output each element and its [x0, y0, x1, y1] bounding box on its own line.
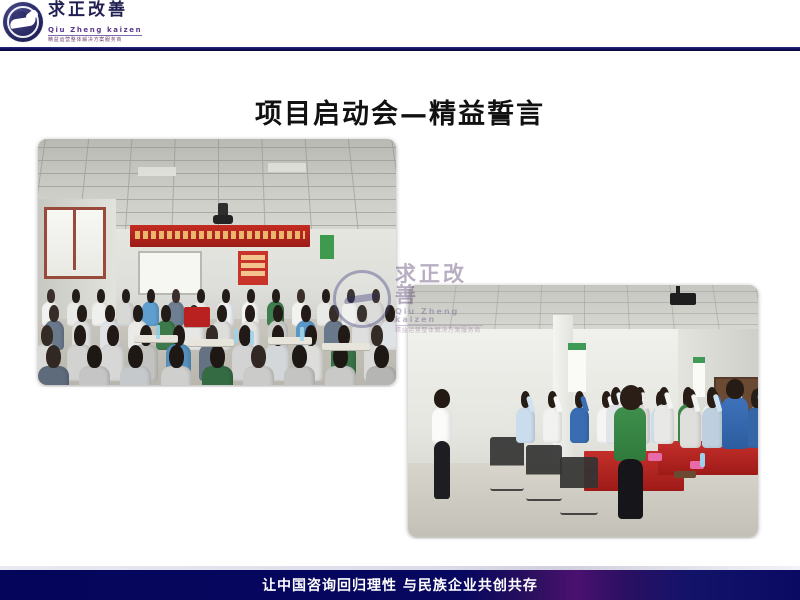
brand-logo-text: 求正改善 Qiu Zheng kaizen 精益运营整体解决方案服务商 [48, 2, 142, 43]
brand-tagline: 精益运营整体解决方案服务商 [48, 38, 142, 43]
slide-header: 求正改善 Qiu Zheng kaizen 精益运营整体解决方案服务商 [0, 0, 800, 52]
photo-oath-ceremony-image [408, 285, 758, 537]
page-title: 项目启动会—精益誓言 [0, 92, 800, 131]
photo-oath-reflection [408, 539, 758, 565]
photo-oath-ceremony [408, 285, 758, 565]
brand-name-cn: 求正改善 [48, 2, 142, 19]
photo-kickoff-reflection [38, 387, 396, 429]
qiuzheng-circle-swoosh-logo-icon [3, 2, 43, 42]
photo-kickoff-meeting-rear-view-image [38, 139, 396, 385]
footer-slogan: 让中国咨询回归理性 与民族企业共创共存 [262, 575, 538, 595]
brand-logo: 求正改善 Qiu Zheng kaizen 精益运营整体解决方案服务商 [3, 1, 142, 43]
photo-kickoff-meeting-rear-view [38, 139, 396, 429]
header-divider-rule [0, 47, 800, 51]
brand-name-en: Qiu Zheng kaizen [48, 27, 142, 36]
slide-footer: 让中国咨询回归理性 与民族企业共创共存 [0, 570, 800, 600]
meeting-banner [130, 225, 310, 247]
